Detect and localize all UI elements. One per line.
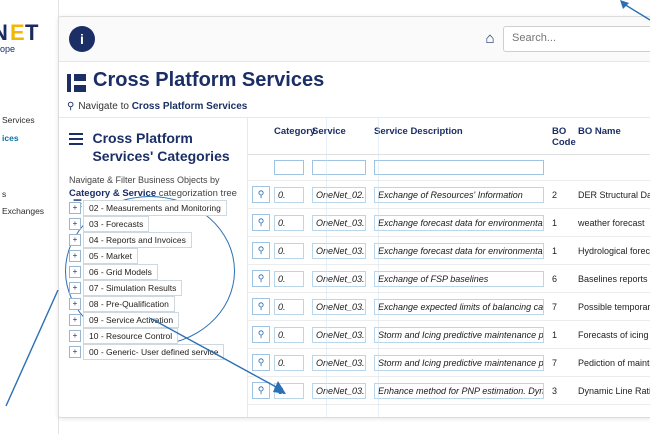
tree-node-03[interactable]: + 03 - Forecasts xyxy=(69,216,239,231)
background-nav-item-exchanges[interactable]: Exchanges xyxy=(0,203,58,221)
tree-node-label[interactable]: 10 - Resource Control xyxy=(83,328,178,344)
cell-category-value: 0. xyxy=(274,355,304,371)
cell-category-value: 0. xyxy=(274,327,304,343)
cell-service-value: OneNet_03. xyxy=(312,383,366,399)
column-highlight-category-left xyxy=(326,118,327,417)
cell-category[interactable]: 0. xyxy=(270,293,308,321)
tree-node-label[interactable]: 07 - Simulation Results xyxy=(83,280,182,296)
breadcrumb-prefix: Navigate to xyxy=(78,101,129,112)
cell-description[interactable]: Exchange of FSP baselines xyxy=(370,265,548,293)
table-row[interactable]: ⚲ 0. OneNet_03. Exchange forecast data f… xyxy=(248,237,650,265)
filter-cell-service[interactable] xyxy=(308,155,370,181)
background-nav-list: Services ices s Exchanges xyxy=(0,112,58,221)
cell-category-value: 0. xyxy=(274,187,304,203)
logo-letter-n: N xyxy=(0,20,7,46)
tree-node-label[interactable]: 05 - Market xyxy=(83,248,138,264)
tree-node-05[interactable]: + 05 - Market xyxy=(69,248,239,263)
home-icon[interactable]: ⌂ xyxy=(481,30,499,48)
row-zoom-cell[interactable]: ⚲ xyxy=(248,349,270,377)
cell-category[interactable]: 0. xyxy=(270,209,308,237)
cell-description-value: Exchange forecast data for environmental… xyxy=(374,215,544,231)
expand-icon[interactable]: + xyxy=(69,266,81,278)
cell-category[interactable]: 0. xyxy=(270,377,308,405)
tree-node-label[interactable]: 02 - Measurements and Monitoring xyxy=(83,200,227,216)
tree-node-label[interactable]: 08 - Pre-Qualification xyxy=(83,296,175,312)
magnifier-icon: ⚲ xyxy=(67,101,74,112)
magnifier-icon[interactable]: ⚲ xyxy=(252,354,270,371)
cell-boname: Hydrological forecast xyxy=(574,237,650,265)
cell-boname: Pediction of maintenance pe xyxy=(574,349,650,377)
cell-boname: Dynamic Line Rating Foreca xyxy=(574,377,650,405)
tree-title: Cross Platform Services' Categories xyxy=(92,130,232,165)
tree-node-06[interactable]: + 06 - Grid Models xyxy=(69,264,239,279)
magnifier-icon[interactable]: ⚲ xyxy=(252,326,270,343)
cell-service[interactable]: OneNet_03. xyxy=(308,349,370,377)
expand-icon[interactable]: + xyxy=(69,282,81,294)
cell-boname: Possible temporary limits on xyxy=(574,293,650,321)
table-row[interactable]: ⚲ 0. OneNet_03. Storm and Icing predicti… xyxy=(248,349,650,377)
filter-cell-category[interactable] xyxy=(270,155,308,181)
cell-description-value: Storm and Icing predictive maintenance p… xyxy=(374,355,544,371)
cell-service-value: OneNet_02. xyxy=(312,187,366,203)
cell-service[interactable]: OneNet_03. xyxy=(308,321,370,349)
cell-service[interactable]: OneNet_02. xyxy=(308,181,370,209)
screenshot-root: N E T urope Services ices s Exchanges i … xyxy=(0,0,650,434)
cell-category[interactable]: 0. xyxy=(270,181,308,209)
cell-service[interactable]: OneNet_03. xyxy=(308,237,370,265)
page-header: Cross Platform Services ⚲Navigate to Cro… xyxy=(59,61,650,117)
tree-title-line1: Cross Platform xyxy=(92,130,192,146)
category-tree-panel: Cross Platform Services' Categories Navi… xyxy=(59,118,248,417)
expand-icon[interactable]: + xyxy=(69,202,81,214)
cell-service[interactable]: OneNet_03. xyxy=(308,377,370,405)
cross-platform-icon xyxy=(67,74,87,92)
cell-category[interactable]: 0. xyxy=(270,265,308,293)
cell-bocode: 1 xyxy=(548,321,574,349)
expand-icon[interactable]: + xyxy=(69,330,81,342)
table-filter-row[interactable] xyxy=(248,155,650,181)
cell-boname: DER Structural Data xyxy=(574,181,650,209)
expand-icon[interactable]: + xyxy=(69,218,81,230)
cell-service[interactable]: OneNet_03. xyxy=(308,265,370,293)
cell-category-value: 0. xyxy=(274,383,304,399)
column-highlight-service-left xyxy=(378,118,379,417)
column-header-icon xyxy=(248,118,270,155)
column-header-bo-name[interactable]: BO Name xyxy=(574,118,650,155)
magnifier-icon[interactable]: ⚲ xyxy=(252,242,270,259)
tree-node-label[interactable]: 06 - Grid Models xyxy=(83,264,158,280)
expand-icon[interactable]: + xyxy=(69,314,81,326)
filter-cell-icon xyxy=(248,155,270,181)
column-header-bo-code[interactable]: BO Code xyxy=(548,118,574,155)
tree-subtitle-bold: Category & Service xyxy=(69,188,156,199)
cell-category[interactable]: 0. xyxy=(270,237,308,265)
cell-category[interactable]: 0. xyxy=(270,321,308,349)
tree-node-label[interactable]: 09 - Service Activation xyxy=(83,312,179,328)
cell-bocode: 1 xyxy=(548,209,574,237)
tree-node-07[interactable]: + 07 - Simulation Results xyxy=(69,280,239,295)
row-zoom-cell[interactable]: ⚲ xyxy=(248,209,270,237)
cell-service-value: OneNet_03. xyxy=(312,355,366,371)
info-icon[interactable]: i xyxy=(69,26,95,52)
filter-cell-boname xyxy=(574,155,650,181)
cell-bocode: 3 xyxy=(548,377,574,405)
cell-service[interactable]: OneNet_03. xyxy=(308,209,370,237)
cell-description[interactable]: Enhance method for PNP estimation. Dynam… xyxy=(370,377,548,405)
background-nav-item-ices[interactable]: ices xyxy=(0,130,58,148)
cell-description-value: Exchange forecast data for environmental… xyxy=(374,243,544,259)
cell-category-value: 0. xyxy=(274,271,304,287)
magnifier-icon[interactable]: ⚲ xyxy=(252,382,270,399)
expand-icon[interactable]: + xyxy=(69,346,81,358)
breadcrumb-target[interactable]: Cross Platform Services xyxy=(132,101,248,112)
cell-description[interactable]: Exchange expected limits of balancing ca… xyxy=(370,293,548,321)
table-row[interactable]: ⚲ 0. OneNet_03. Exchange of FSP baseline… xyxy=(248,265,650,293)
row-zoom-cell[interactable]: ⚲ xyxy=(248,321,270,349)
table-row[interactable]: ⚲ 0. OneNet_03. Storm and Icing predicti… xyxy=(248,321,650,349)
cell-service-value: OneNet_03. xyxy=(312,271,366,287)
tree-header: Cross Platform Services' Categories xyxy=(69,130,239,165)
row-zoom-cell[interactable]: ⚲ xyxy=(248,265,270,293)
tree-node-04[interactable]: + 04 - Reports and Invoices xyxy=(69,232,239,247)
cell-service-value: OneNet_03. xyxy=(312,327,366,343)
table-body: ⚲ 0. OneNet_02. Exchange of Resources' I… xyxy=(248,181,650,405)
cell-boname: Forecasts of icing and storm xyxy=(574,321,650,349)
cell-category-value: 0. xyxy=(274,299,304,315)
tree-title-line2: Services' Categories xyxy=(92,148,229,164)
services-table: Category Service Service Description BO … xyxy=(248,118,650,405)
filter-input-description[interactable] xyxy=(374,160,544,175)
tree-node-09[interactable]: + 09 - Service Activation xyxy=(69,312,239,327)
search-box[interactable] xyxy=(503,26,650,52)
tree-node-08[interactable]: + 08 - Pre-Qualification xyxy=(69,296,239,311)
background-nav-item-s[interactable]: s xyxy=(0,186,58,204)
table-row[interactable]: ⚲ 0. OneNet_03. Enhance method for PNP e… xyxy=(248,377,650,405)
logo-letter-e: E xyxy=(10,20,25,46)
column-header-service[interactable]: Service xyxy=(308,118,370,155)
cell-description-value: Exchange of FSP baselines xyxy=(374,271,544,287)
cell-bocode: 7 xyxy=(548,293,574,321)
cell-service-value: OneNet_03. xyxy=(312,299,366,315)
cell-bocode: 1 xyxy=(548,237,574,265)
main-window: i ⌂ Cross Platform Services ⚲Navigate to… xyxy=(58,16,650,418)
filter-input-category[interactable] xyxy=(274,160,304,175)
tree-node-10[interactable]: + 10 - Resource Control xyxy=(69,328,239,343)
background-nav-item-services[interactable]: Services xyxy=(0,112,58,130)
cell-description-value: Exchange of Resources' Information xyxy=(374,187,544,203)
logo-subtitle: urope xyxy=(0,44,15,54)
tree-node-00[interactable]: + 00 - Generic- User defined service xyxy=(69,344,239,359)
cell-boname: weather forecast xyxy=(574,209,650,237)
row-zoom-cell[interactable]: ⚲ xyxy=(248,377,270,405)
logo-letter-t: T xyxy=(25,20,38,46)
search-input[interactable] xyxy=(504,27,646,49)
cell-boname: Baselines reports xyxy=(574,265,650,293)
top-bar: i ⌂ xyxy=(59,17,650,62)
tree-node-02[interactable]: + 02 - Measurements and Monitoring xyxy=(69,200,239,215)
magnifier-icon[interactable]: ⚲ xyxy=(252,298,270,315)
column-header-category[interactable]: Category xyxy=(270,118,308,155)
magnifier-icon[interactable]: ⚲ xyxy=(252,186,270,203)
table-row[interactable]: ⚲ 0. OneNet_03. Exchange expected limits… xyxy=(248,293,650,321)
category-tree-list: + 02 - Measurements and Monitoring + 03 … xyxy=(69,200,239,360)
tree-node-label[interactable]: 00 - Generic- User defined service xyxy=(83,344,224,360)
row-zoom-cell[interactable]: ⚲ xyxy=(248,293,270,321)
cell-description[interactable]: Storm and Icing predictive maintenance p… xyxy=(370,349,548,377)
table-header-row: Category Service Service Description BO … xyxy=(248,118,650,155)
page-title: Cross Platform Services xyxy=(93,69,324,92)
cell-bocode: 2 xyxy=(548,181,574,209)
column-header-service-description[interactable]: Service Description xyxy=(370,118,548,155)
cell-service-value: OneNet_03. xyxy=(312,243,366,259)
cell-description[interactable]: Exchange forecast data for environmental… xyxy=(370,209,548,237)
cell-bocode: 6 xyxy=(548,265,574,293)
magnifier-icon[interactable]: ⚲ xyxy=(252,214,270,231)
magnifier-icon[interactable]: ⚲ xyxy=(252,270,270,287)
filter-input-service[interactable] xyxy=(312,160,366,175)
cell-category-value: 0. xyxy=(274,215,304,231)
tree-node-label[interactable]: 04 - Reports and Invoices xyxy=(83,232,192,248)
row-zoom-cell[interactable]: ⚲ xyxy=(248,237,270,265)
cell-description-value: Storm and Icing predictive maintenance p… xyxy=(374,327,544,343)
row-zoom-cell[interactable]: ⚲ xyxy=(248,181,270,209)
tree-subtitle: Navigate & Filter Business Objects by xyxy=(69,175,220,185)
filter-cell-description[interactable] xyxy=(370,155,548,181)
background-page-left-strip: N E T urope Services ices s Exchanges xyxy=(0,0,59,434)
expand-icon[interactable]: + xyxy=(69,250,81,262)
cell-description[interactable]: Exchange forecast data for environmental… xyxy=(370,237,548,265)
filter-cell-bocode xyxy=(548,155,574,181)
onenet-logo[interactable]: N E T urope xyxy=(0,18,48,52)
tree-node-label[interactable]: 03 - Forecasts xyxy=(83,216,149,232)
cell-category[interactable]: 0. xyxy=(270,349,308,377)
cell-service-value: OneNet_03. xyxy=(312,215,366,231)
cell-description-value: Exchange expected limits of balancing ca… xyxy=(374,299,544,315)
services-table-container[interactable]: Category Service Service Description BO … xyxy=(248,118,650,417)
cell-description-value: Enhance method for PNP estimation. Dynam… xyxy=(374,383,544,399)
breadcrumb: ⚲Navigate to Cross Platform Services xyxy=(67,101,247,112)
expand-icon[interactable]: + xyxy=(69,298,81,310)
table-row[interactable]: ⚲ 0. OneNet_02. Exchange of Resources' I… xyxy=(248,181,650,209)
tree-subtitle-light: categorization tree xyxy=(156,188,237,199)
hamburger-icon[interactable] xyxy=(69,130,83,148)
table-row[interactable]: ⚲ 0. OneNet_03. Exchange forecast data f… xyxy=(248,209,650,237)
cell-service[interactable]: OneNet_03. xyxy=(308,293,370,321)
cell-description[interactable]: Exchange of Resources' Information xyxy=(370,181,548,209)
cell-category-value: 0. xyxy=(274,243,304,259)
cell-description[interactable]: Storm and Icing predictive maintenance p… xyxy=(370,321,548,349)
cell-bocode: 7 xyxy=(548,349,574,377)
expand-icon[interactable]: + xyxy=(69,234,81,246)
